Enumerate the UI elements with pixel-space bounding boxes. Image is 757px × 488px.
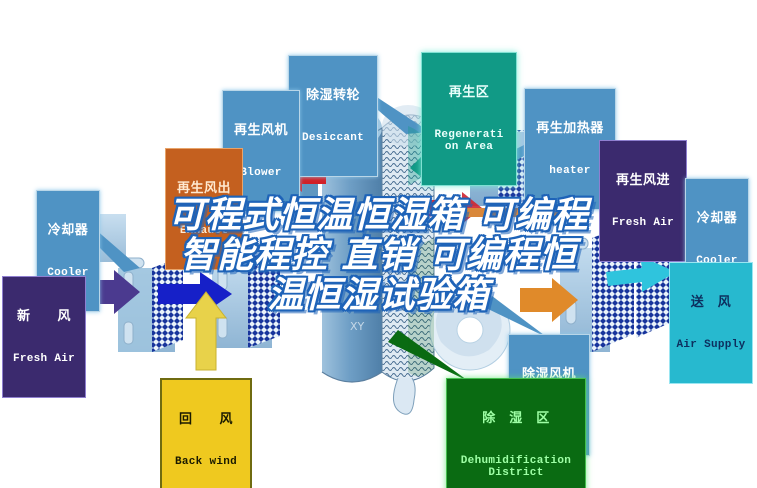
svg-text:XY: XY bbox=[350, 320, 365, 333]
headline-line-2: 智能程控 直销 可编程恒 bbox=[0, 236, 757, 276]
label-regen-blower-cn: 再生风机 bbox=[225, 123, 297, 138]
label-desiccant-cn: 除湿转轮 bbox=[291, 88, 375, 103]
label-back-wind[interactable]: 回 风 Back wind bbox=[160, 378, 252, 488]
label-regen-area-cn: 再生区 bbox=[424, 85, 514, 100]
label-fresh-air-en: Fresh Air bbox=[5, 353, 83, 365]
label-dehumid-district[interactable]: 除 湿 区 Dehumidification District bbox=[446, 378, 586, 488]
label-desiccant[interactable]: 除湿转轮 Desiccant bbox=[288, 55, 378, 177]
label-back-wind-en: Back wind bbox=[164, 456, 248, 468]
label-dehumid-district-cn: 除 湿 区 bbox=[449, 411, 583, 426]
label-air-supply-en: Air Supply bbox=[672, 339, 750, 351]
label-regen-area-en: Regenerati on Area bbox=[424, 129, 514, 154]
headline-line-3: 温恒湿试验箱 bbox=[0, 276, 757, 316]
label-dehumid-district-en: Dehumidification District bbox=[449, 455, 583, 480]
label-regen-fresh-air-cn: 再生风进 bbox=[602, 173, 684, 188]
diagram-canvas: XY bbox=[0, 0, 757, 488]
label-exhaust-cn: 再生风出 bbox=[168, 181, 240, 196]
marketing-headline: 可程式恒温恒湿箱 可编程 智能程控 直销 可编程恒 温恒湿试验箱 bbox=[0, 196, 757, 316]
headline-line-1: 可程式恒温恒湿箱 可编程 bbox=[0, 196, 757, 236]
label-regen-area[interactable]: 再生区 Regenerati on Area bbox=[421, 52, 517, 186]
label-back-wind-cn: 回 风 bbox=[164, 412, 248, 427]
label-desiccant-en: Desiccant bbox=[291, 132, 375, 144]
label-regen-heater-cn: 再生加热器 bbox=[527, 121, 613, 136]
